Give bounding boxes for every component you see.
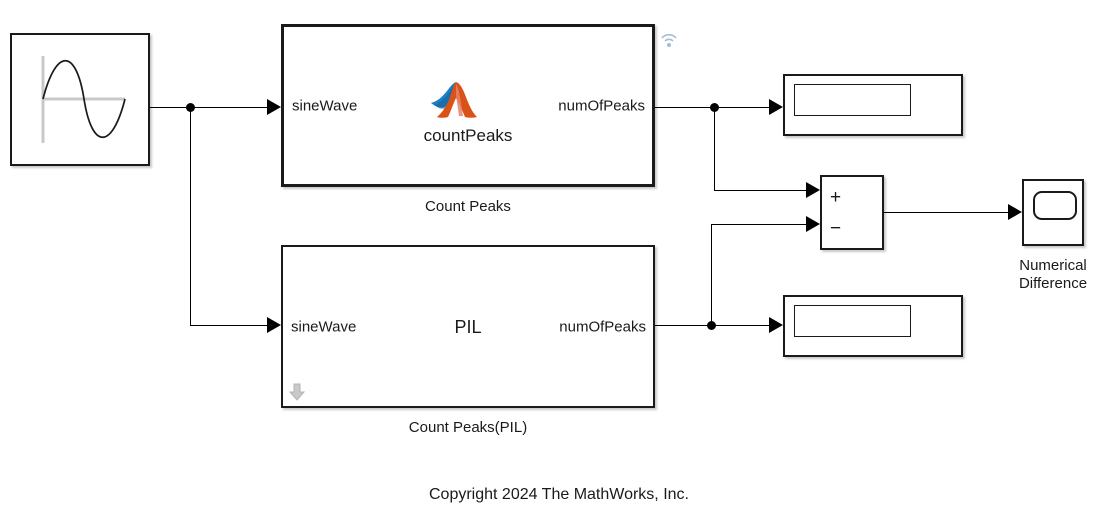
arrow-sum-plus-input [806,182,820,198]
sum-plus-sign: + [830,188,841,207]
arrow-scope-input [1008,204,1022,220]
matlab-function-icon [429,79,483,121]
display-bottom-value-field [794,305,911,337]
scope-block[interactable] [1022,179,1084,246]
arrow-count-peaks-pil-input [267,317,281,333]
count-peaks-output-port-label: numOfPeaks [558,98,645,113]
wire-count-peaks-to-sum [714,107,715,190]
wire-sine-branch-down [190,107,191,325]
wire-sine-branch-to-pil [190,325,270,326]
count-peaks-subsystem-block[interactable]: sineWave numOfPeaks countPeaks [281,24,655,187]
scope-caption-line1: Numerical [985,257,1118,275]
wire-to-sum-minus [711,224,810,225]
arrow-sum-minus-input [806,216,820,232]
matlab-function-icon-label: countPeaks [284,127,652,144]
arrow-count-peaks-input [267,99,281,115]
sine-wave-icon [12,35,148,164]
arrow-display-top-input [769,99,783,115]
download-arrow-icon [288,382,306,402]
count-peaks-subsystem-caption: Count Peaks [281,198,655,216]
wire-sine-to-junction [150,107,270,108]
sum-block[interactable]: + − [820,175,884,250]
sum-minus-sign: − [830,219,841,238]
scope-screen [1033,191,1077,220]
count-peaks-input-port-label: sineWave [292,98,357,113]
wire-sum-to-scope [884,212,1012,213]
display-block-top[interactable] [783,74,963,136]
sine-wave-source-block[interactable] [10,33,150,166]
copyright-text: Copyright 2024 The MathWorks, Inc. [0,487,1118,503]
display-top-value-field [794,84,911,116]
scope-caption-line2: Difference [985,275,1118,293]
pil-icon-label: PIL [283,318,653,336]
arrow-display-bottom-input [769,317,783,333]
count-peaks-pil-subsystem-caption: Count Peaks(PIL) [281,419,655,437]
wire-pil-to-sum [711,224,712,325]
display-block-bottom[interactable] [783,295,963,357]
simulink-model-canvas: sineWave numOfPeaks countPeaks Count Pea… [0,0,1118,514]
wire-to-sum-plus [714,190,810,191]
signal-logging-icon [658,26,680,50]
count-peaks-pil-subsystem-block[interactable]: sineWave numOfPeaks PIL [281,245,655,408]
scope-caption: Numerical Difference [985,257,1118,292]
